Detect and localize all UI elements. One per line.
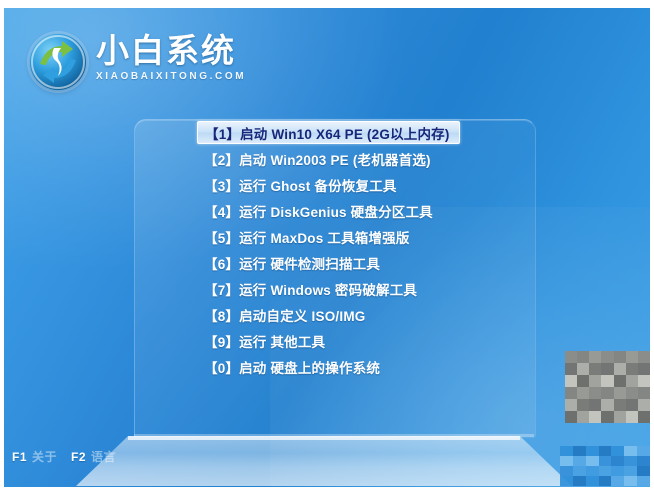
menu-item-0[interactable]: 【0】启动 硬盘上的操作系统 [134,355,534,379]
mosaic-tile [614,363,626,375]
menu-item-4-label: 运行 DiskGenius 硬盘分区工具 [239,201,433,221]
laptop-base-top-edge [128,436,520,440]
mosaic-tile [626,399,638,411]
mosaic-tile [589,375,601,387]
mosaic-tile [637,466,650,476]
mosaic-tile [611,476,624,486]
menu-item-2-label: 启动 Win2003 PE (老机器首选) [239,149,431,169]
menu-item-3[interactable]: 【3】运行 Ghost 备份恢复工具 [134,173,534,197]
menu-item-3-label: 运行 Ghost 备份恢复工具 [239,175,397,195]
mosaic-censor-bottom [560,446,650,486]
mosaic-tile [626,387,638,399]
menu-item-8-key: 【8】 [204,305,239,325]
menu-item-9-key: 【9】 [204,331,239,351]
menu-item-8[interactable]: 【8】启动自定义 ISO/IMG [134,303,534,327]
mosaic-tile [638,375,650,387]
menu-item-1[interactable]: 【1】启动 Win10 X64 PE (2G以上内存) [134,121,534,145]
mosaic-tile [638,351,650,363]
menu-item-5[interactable]: 【5】运行 MaxDos 工具箱增强版 [134,225,534,249]
menu-item-6-key: 【6】 [204,253,239,273]
mosaic-tile [573,446,586,456]
mosaic-tile [614,411,626,423]
recycle-circle-logo-icon [30,34,86,90]
mosaic-tile [601,351,613,363]
mosaic-tile [589,351,601,363]
mosaic-tile [577,375,589,387]
mosaic-tile [560,446,573,456]
menu-item-9-label: 运行 其他工具 [239,331,325,351]
mosaic-tile [614,375,626,387]
mosaic-tile [577,399,589,411]
mosaic-tile [586,456,599,466]
menu-item-1-key: 【1】 [205,123,240,143]
mosaic-tile [565,387,577,399]
mosaic-tile [586,466,599,476]
menu-item-5-key: 【5】 [204,227,239,247]
menu-item-0-label: 启动 硬盘上的操作系统 [239,357,380,377]
mosaic-tile [601,387,613,399]
mosaic-tile [560,466,573,476]
mosaic-tile [626,375,638,387]
mosaic-tile [624,456,637,466]
brand-logo-text: 小白系统 XIAOBAIXITONG.COM [96,32,286,83]
mosaic-tile [624,446,637,456]
mosaic-tile [565,351,577,363]
mosaic-tile [624,466,637,476]
mosaic-tile [589,399,601,411]
mosaic-tile [637,456,650,466]
menu-item-4-key: 【4】 [204,201,239,221]
menu-item-9[interactable]: 【9】运行 其他工具 [134,329,534,353]
mosaic-tile [565,375,577,387]
menu-item-7[interactable]: 【7】运行 Windows 密码破解工具 [134,277,534,301]
menu-item-7-label: 运行 Windows 密码破解工具 [239,279,417,299]
mosaic-tile [611,456,624,466]
mosaic-tile [560,476,573,486]
boot-menu-list: 【1】启动 Win10 X64 PE (2G以上内存) 【2】启动 Win200… [134,121,534,381]
mosaic-censor-right [565,351,650,423]
mosaic-tile [573,456,586,466]
mosaic-tile [586,476,599,486]
mosaic-tile [577,387,589,399]
hotkey-f2-key: F2 [71,450,86,464]
menu-item-0-key: 【0】 [204,357,239,377]
mosaic-tile [637,476,650,486]
mosaic-tile [599,466,612,476]
mosaic-tile [560,456,573,466]
mosaic-tile [638,399,650,411]
mosaic-tile [599,476,612,486]
hotkey-f2-label[interactable]: 语言 [91,448,116,465]
mosaic-tile [589,411,601,423]
mosaic-tile [611,466,624,476]
mosaic-tile [573,466,586,476]
hotkey-f1-label[interactable]: 关于 [32,448,57,465]
mosaic-tile [577,351,589,363]
mosaic-tile [599,446,612,456]
menu-item-3-key: 【3】 [204,175,239,195]
boot-menu-screen: 小白系统 XIAOBAIXITONG.COM 【1】启动 Win10 X64 P… [4,8,650,487]
mosaic-tile [577,411,589,423]
hotkey-f1-key: F1 [12,450,27,464]
menu-item-1-highlight: 【1】启动 Win10 X64 PE (2G以上内存) [197,121,460,144]
mosaic-tile [638,411,650,423]
menu-item-7-key: 【7】 [204,279,239,299]
mosaic-tile [601,363,613,375]
mosaic-tile [626,351,638,363]
mosaic-tile [624,476,637,486]
mosaic-tile [614,399,626,411]
laptop-base [76,436,572,486]
menu-item-6-label: 运行 硬件检测扫描工具 [239,253,380,273]
mosaic-tile [589,363,601,375]
mosaic-tile [611,446,624,456]
menu-item-2-key: 【2】 [204,149,239,169]
mosaic-tile [565,411,577,423]
mosaic-tile [626,363,638,375]
brand-name-cn: 小白系统 [96,32,286,70]
mosaic-tile [601,399,613,411]
menu-item-6[interactable]: 【6】运行 硬件检测扫描工具 [134,251,534,275]
mosaic-tile [601,411,613,423]
mosaic-tile [638,387,650,399]
mosaic-tile [565,363,577,375]
mosaic-tile [577,363,589,375]
mosaic-tile [573,476,586,486]
menu-item-4[interactable]: 【4】运行 DiskGenius 硬盘分区工具 [134,199,534,223]
mosaic-tile [601,375,613,387]
menu-item-5-label: 运行 MaxDos 工具箱增强版 [239,227,409,247]
hotkey-bar: F1 关于 F2 语言 [12,448,130,465]
brand-name-en: XIAOBAIXITONG.COM [96,70,286,83]
mosaic-tile [614,351,626,363]
mosaic-tile [599,456,612,466]
menu-item-8-label: 启动自定义 ISO/IMG [239,305,365,325]
brand-logo: 小白系统 XIAOBAIXITONG.COM [30,30,290,92]
mosaic-tile [565,399,577,411]
mosaic-tile [626,411,638,423]
mosaic-tile [586,446,599,456]
menu-item-1-label: 启动 Win10 X64 PE (2G以上内存) [240,123,449,143]
mosaic-tile [637,446,650,456]
menu-item-2[interactable]: 【2】启动 Win2003 PE (老机器首选) [134,147,534,171]
mosaic-tile [638,363,650,375]
mosaic-tile [589,387,601,399]
mosaic-tile [614,387,626,399]
